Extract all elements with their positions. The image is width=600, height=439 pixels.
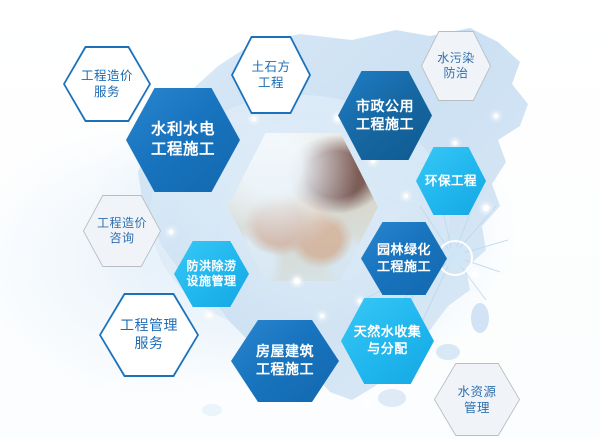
hexagon-shuiziyuan-guanli[interactable]: 水资源 管理 xyxy=(434,363,520,436)
hexagon-tushifang-gongcheng[interactable]: 土石方 工程 xyxy=(231,36,311,114)
hexagon-label: 工程管理 服务 xyxy=(120,317,178,353)
hexagon-label: 水污染 防治 xyxy=(437,51,475,82)
hexagon-tianranshui-shouji-yu-fenpei[interactable]: 天然水收集 与分配 xyxy=(341,298,434,384)
hexagon-label: 水利水电 工程施工 xyxy=(151,120,215,160)
decorative-dot xyxy=(169,230,173,234)
hexagon-shuili-shuidian-gongcheng-shigong[interactable]: 水利水电 工程施工 xyxy=(126,88,240,192)
decorative-dot xyxy=(404,194,408,198)
hexagon-label: 天然水收集 与分配 xyxy=(354,324,422,357)
decorative-dot xyxy=(294,278,300,284)
hexagon-fangwu-jianzhu-gongcheng-shigong[interactable]: 房屋建筑 工程施工 xyxy=(231,320,339,402)
decorative-dot xyxy=(453,141,457,145)
decorative-dot xyxy=(207,313,211,317)
hexagon-label: 土石方 工程 xyxy=(251,59,290,91)
hexagon-gongcheng-guanli-fuwu[interactable]: 工程管理 服务 xyxy=(99,293,199,377)
decorative-dot xyxy=(364,402,370,408)
decorative-dot xyxy=(320,314,324,318)
hexagon-label: 工程造价 咨询 xyxy=(97,216,147,247)
hexagon-label: 工程造价 服务 xyxy=(81,68,133,100)
hexagon-label: 防洪除涝 设施管理 xyxy=(186,259,236,290)
infographic-canvas: 工程造价 服务土石方 工程水污染 防治水利水电 工程施工市政公用 工程施工环保工… xyxy=(0,0,600,439)
decorative-dot xyxy=(494,114,498,118)
hexagon-label: 市政公用 工程施工 xyxy=(356,98,414,134)
hexagon-label: 房屋建筑 工程施工 xyxy=(256,343,314,379)
hexagon-yuanlin-lvhua-gongcheng-shigong[interactable]: 园林绿化 工程施工 xyxy=(361,222,447,295)
hexagon-label: 水资源 管理 xyxy=(457,384,496,416)
decorative-dot xyxy=(252,117,256,121)
hexagon-huanbao-gongcheng[interactable]: 环保工程 xyxy=(416,147,486,215)
hexagon-label: 园林绿化 工程施工 xyxy=(377,242,431,275)
hexagon-label: 环保工程 xyxy=(425,173,477,189)
decorative-dot xyxy=(472,271,478,277)
hexagon-gongcheng-zaojia-zixun[interactable]: 工程造价 咨询 xyxy=(83,195,161,267)
